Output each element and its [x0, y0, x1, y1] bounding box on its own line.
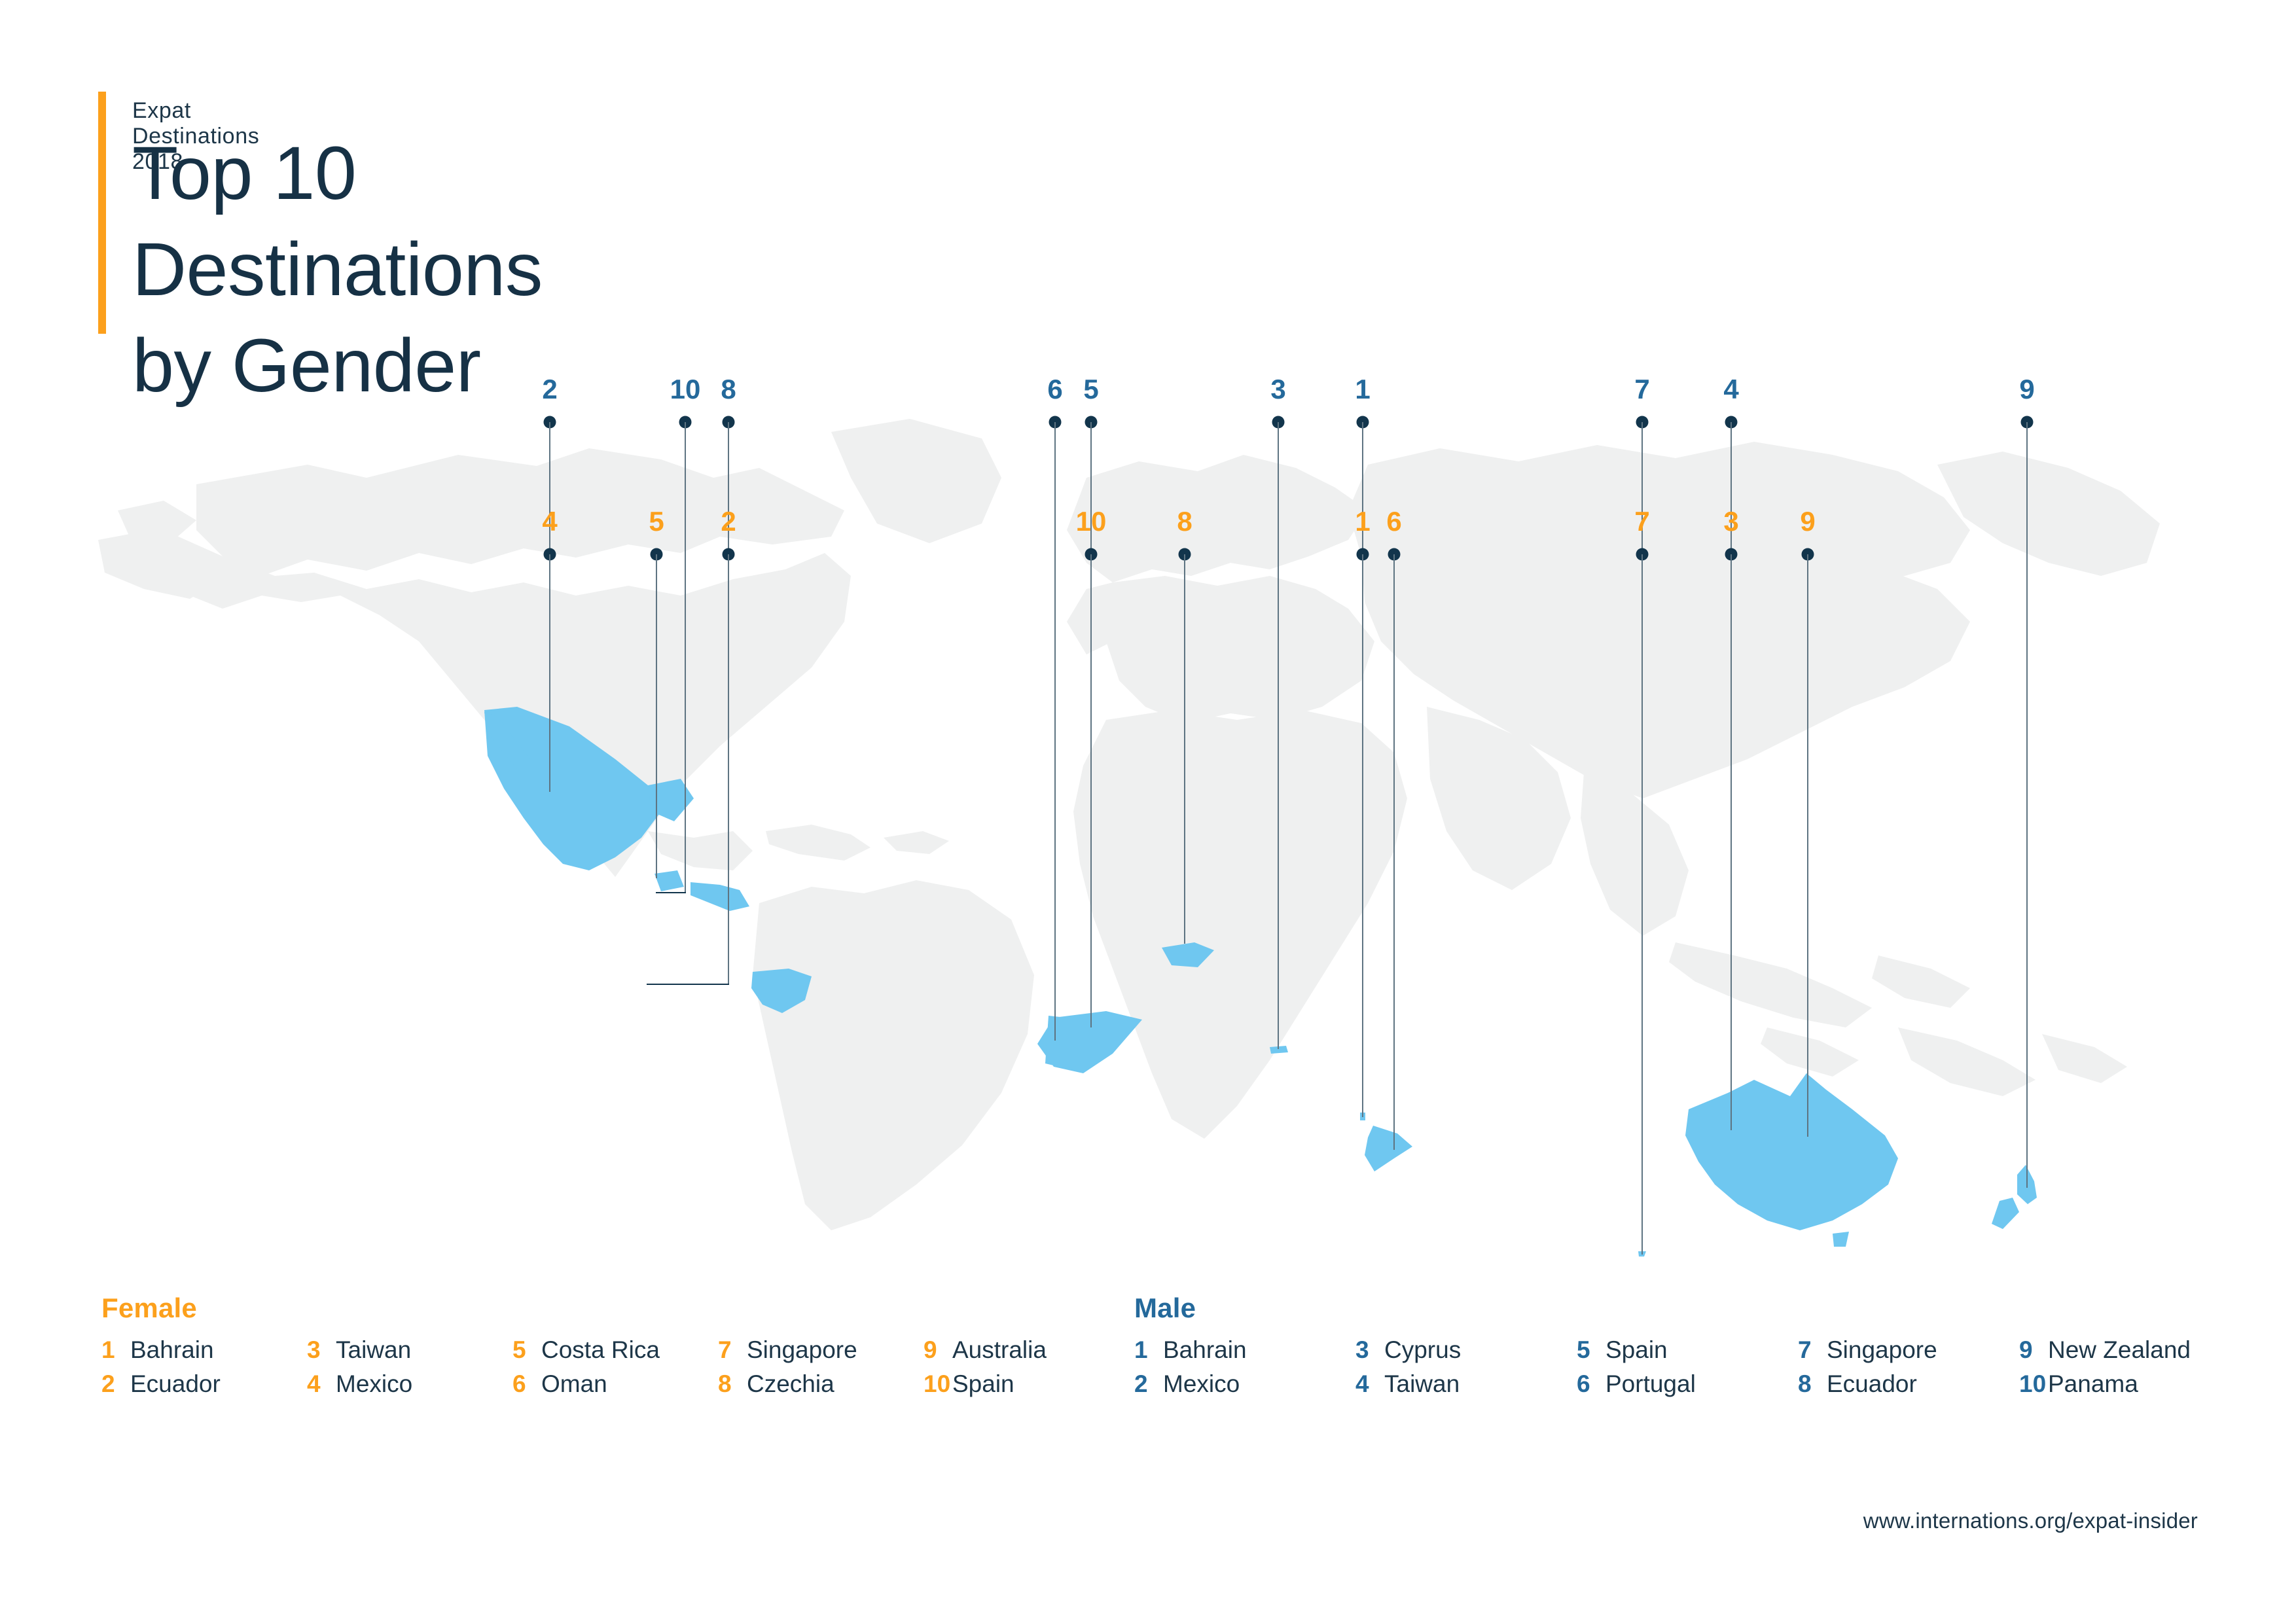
world-map: 2 10 8 6 5 3 1 7 4: [0, 314, 2296, 1257]
legend-rank: 8: [718, 1370, 747, 1398]
legend-item[interactable]: 8Ecuador: [1798, 1370, 2019, 1398]
marker-rank: 1: [1355, 506, 1370, 537]
legend-country: Singapore: [747, 1336, 857, 1364]
legend-country: Ecuador: [1827, 1370, 1917, 1398]
marker-rank: 9: [2019, 374, 2034, 405]
marker-stem: [1393, 554, 1395, 1150]
legend-item[interactable]: 2Ecuador: [101, 1370, 307, 1398]
marker-rank: 9: [1800, 506, 1815, 537]
legend-item[interactable]: 5Spain: [1577, 1336, 1798, 1364]
country-oman: [1365, 1126, 1412, 1171]
legend-country: Portugal: [1605, 1370, 1696, 1398]
legend-item[interactable]: 1Bahrain: [1134, 1336, 1355, 1364]
marker-rank: 1: [1355, 374, 1370, 405]
legend-item[interactable]: 7Singapore: [718, 1336, 924, 1364]
footer-url[interactable]: www.internations.org/expat-insider: [1863, 1508, 2198, 1533]
legend-rank: 9: [924, 1336, 952, 1364]
marker-stem: [1090, 554, 1092, 1027]
marker-elbow: [656, 892, 686, 893]
marker-stem: [1362, 554, 1363, 1117]
marker-rank: 6: [1386, 506, 1401, 537]
legend-rank: 2: [1134, 1370, 1163, 1398]
legend-country: Ecuador: [130, 1370, 221, 1398]
country-panama: [691, 882, 749, 911]
legend-female-grid: 1Bahrain 2Ecuador 3Taiwan 4Mexico 5Costa…: [101, 1333, 1129, 1401]
legend-rank: 8: [1798, 1370, 1827, 1398]
country-costa-rica: [655, 870, 684, 891]
legend-rank: 10: [924, 1370, 952, 1398]
legend-country: Panama: [2048, 1370, 2138, 1398]
legend-country: Taiwan: [1384, 1370, 1460, 1398]
legend-female: Female 1Bahrain 2Ecuador 3Taiwan 4Mexico…: [101, 1293, 197, 1324]
legend-item[interactable]: 6Oman: [512, 1370, 718, 1398]
legend-country: Spain: [952, 1370, 1014, 1398]
legend-rank: 1: [101, 1336, 130, 1364]
marker-stem: [2026, 422, 2028, 1188]
legend-rank: 4: [1355, 1370, 1384, 1398]
legend-country: Mexico: [1163, 1370, 1240, 1398]
legend-rank: 10: [2019, 1370, 2048, 1398]
legend-rank: 4: [307, 1370, 336, 1398]
legend-male-grid: 1Bahrain 2Mexico 3Cyprus 4Taiwan 5Spain …: [1134, 1333, 2240, 1401]
legend-item[interactable]: 5Costa Rica: [512, 1336, 718, 1364]
legend-country: Oman: [541, 1370, 607, 1398]
country-tasmania: [1833, 1232, 1849, 1247]
marker-rank: 8: [1177, 506, 1192, 537]
legend-country: Mexico: [336, 1370, 412, 1398]
legend-item[interactable]: 6Portugal: [1577, 1370, 1798, 1398]
marker-rank: 5: [1083, 374, 1098, 405]
legend-rank: 7: [1798, 1336, 1827, 1364]
legend-item[interactable]: 10Spain: [924, 1370, 1129, 1398]
marker-rank: 7: [1634, 506, 1649, 537]
legend-country: Spain: [1605, 1336, 1668, 1364]
marker-rank: 8: [721, 374, 736, 405]
legend-rank: 1: [1134, 1336, 1163, 1364]
marker-stem: [1641, 554, 1643, 1255]
legend-rank: 3: [307, 1336, 336, 1364]
legend-country: Czechia: [747, 1370, 834, 1398]
legend-rank: 3: [1355, 1336, 1384, 1364]
legend-item[interactable]: 3Taiwan: [307, 1336, 512, 1364]
marker-rank: 6: [1047, 374, 1062, 405]
marker-rank: 10: [1076, 506, 1107, 537]
world-map-svg: [0, 314, 2296, 1257]
legend-item[interactable]: 4Taiwan: [1355, 1370, 1577, 1398]
legend-male-title: Male: [1134, 1293, 1196, 1324]
marker-stem: [1278, 422, 1279, 1049]
legend-country: Costa Rica: [541, 1336, 660, 1364]
marker-rank: 5: [649, 506, 664, 537]
country-cyprus: [1270, 1046, 1288, 1054]
marker-rank: 2: [542, 374, 557, 405]
marker-rank: 3: [1723, 506, 1738, 537]
legend-rank: 5: [512, 1336, 541, 1364]
legend-rank: 6: [512, 1370, 541, 1398]
marker-rank: 3: [1270, 374, 1285, 405]
marker-rank: 7: [1634, 374, 1649, 405]
legend-item[interactable]: 7Singapore: [1798, 1336, 2019, 1364]
legend-item[interactable]: 9Australia: [924, 1336, 1129, 1364]
legend-country: Cyprus: [1384, 1336, 1461, 1364]
accent-bar: [98, 92, 106, 334]
marker-stem: [1184, 554, 1185, 944]
legend-rank: 5: [1577, 1336, 1605, 1364]
marker-rank: 2: [721, 506, 736, 537]
marker-stem: [656, 554, 657, 878]
legend-item[interactable]: 9New Zealand: [2019, 1336, 2240, 1364]
legend-item[interactable]: 1Bahrain: [101, 1336, 307, 1364]
marker-stem: [1807, 554, 1808, 1137]
legend-item[interactable]: 2Mexico: [1134, 1370, 1355, 1398]
legend-item[interactable]: 4Mexico: [307, 1370, 512, 1398]
legend-country: Australia: [952, 1336, 1047, 1364]
legend-country: Singapore: [1827, 1336, 1937, 1364]
legend-country: Taiwan: [336, 1336, 411, 1364]
country-new-zealand-south: [1992, 1198, 2019, 1229]
marker-stem: [685, 422, 686, 892]
legend-rank: 7: [718, 1336, 747, 1364]
marker-rank: 4: [542, 506, 557, 537]
marker-stem: [728, 554, 729, 984]
legend-female-title: Female: [101, 1293, 197, 1324]
marker-rank: 4: [1723, 374, 1738, 405]
country-australia: [1685, 1073, 1898, 1230]
legend-rank: 6: [1577, 1370, 1605, 1398]
marker-stem: [1054, 422, 1056, 1041]
legend-item[interactable]: 3Cyprus: [1355, 1336, 1577, 1364]
marker-stem: [1731, 554, 1732, 1130]
legend-item[interactable]: 10Panama: [2019, 1370, 2240, 1398]
legend-item[interactable]: 8Czechia: [718, 1370, 924, 1398]
marker-rank: 10: [670, 374, 701, 405]
legend-male: Male 1Bahrain 2Mexico 3Cyprus 4Taiwan 5S…: [1134, 1293, 1196, 1324]
legend-rank: 2: [101, 1370, 130, 1398]
marker-elbow: [647, 984, 729, 985]
marker-stem: [549, 554, 550, 792]
legend-country: New Zealand: [2048, 1336, 2191, 1364]
country-portugal: [1045, 1016, 1060, 1067]
legend-country: Bahrain: [1163, 1336, 1247, 1364]
legend-country: Bahrain: [130, 1336, 214, 1364]
legend-rank: 9: [2019, 1336, 2048, 1364]
